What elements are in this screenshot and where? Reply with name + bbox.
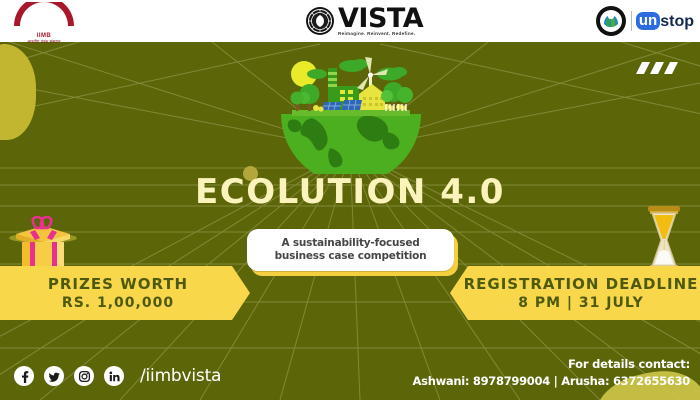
facebook-icon[interactable] xyxy=(14,366,34,386)
deadline-banner: REGISTRATION DEADLINE 8 PM | 31 JULY xyxy=(450,266,700,320)
unstop-logo-stop: stop xyxy=(660,13,694,30)
prizes-banner-line2: RS. 1,00,000 xyxy=(62,295,174,311)
partner-emblem-icon xyxy=(595,5,627,37)
poster-canvas: ECOLUTION 4.0 A sustainability-focused b… xyxy=(0,0,700,400)
linkedin-icon[interactable] xyxy=(104,366,124,386)
deadline-banner-line2: 8 PM | 31 JULY xyxy=(518,295,643,311)
vista-logo[interactable]: VISTA Reimagine. Reinvent. Redefine. xyxy=(305,3,423,39)
logo-divider xyxy=(631,11,632,31)
gift-box-icon xyxy=(6,212,80,274)
unstop-logo-un: un xyxy=(636,12,660,30)
twitter-icon[interactable] xyxy=(44,366,64,386)
header-bar: IIMB भारतीय प्रबंध संस्थान VISTA Reimagi… xyxy=(0,0,700,42)
instagram-icon[interactable] xyxy=(74,366,94,386)
social-handle[interactable]: /iimbvista xyxy=(140,366,221,386)
iimb-logo[interactable]: IIMB भारतीय प्रबंध संस्थान xyxy=(8,2,80,40)
contact-label: For details contact: xyxy=(413,357,690,371)
deadline-banner-line1: REGISTRATION DEADLINE xyxy=(464,275,699,293)
vista-tagline: Reimagine. Reinvent. Redefine. xyxy=(338,31,423,36)
subtitle-text: A sustainability-focused business case c… xyxy=(247,237,454,263)
eco-earth-illustration xyxy=(268,52,434,174)
prizes-banner: PRIZES WORTH RS. 1,00,000 xyxy=(0,266,250,320)
hourglass-icon xyxy=(641,204,687,276)
contact-block: For details contact: Ashwani: 8978799004… xyxy=(413,357,690,388)
page-title: ECOLUTION 4.0 xyxy=(0,172,700,212)
right-logo-group[interactable]: unstop xyxy=(595,4,694,38)
contact-numbers: Ashwani: 8978799004 | Arusha: 6372655630 xyxy=(413,374,690,388)
diagonal-stripes-decoration xyxy=(630,58,686,80)
vista-wordmark: VISTA xyxy=(338,6,423,32)
iimb-arch-icon xyxy=(8,2,80,28)
iimb-logo-subtitle: भारतीय प्रबंध संस्थान xyxy=(8,39,80,45)
vista-emblem-icon xyxy=(305,6,335,36)
prizes-banner-line1: PRIZES WORTH xyxy=(48,275,188,293)
social-links: /iimbvista xyxy=(14,366,221,386)
subtitle-box: A sustainability-focused business case c… xyxy=(247,229,454,271)
